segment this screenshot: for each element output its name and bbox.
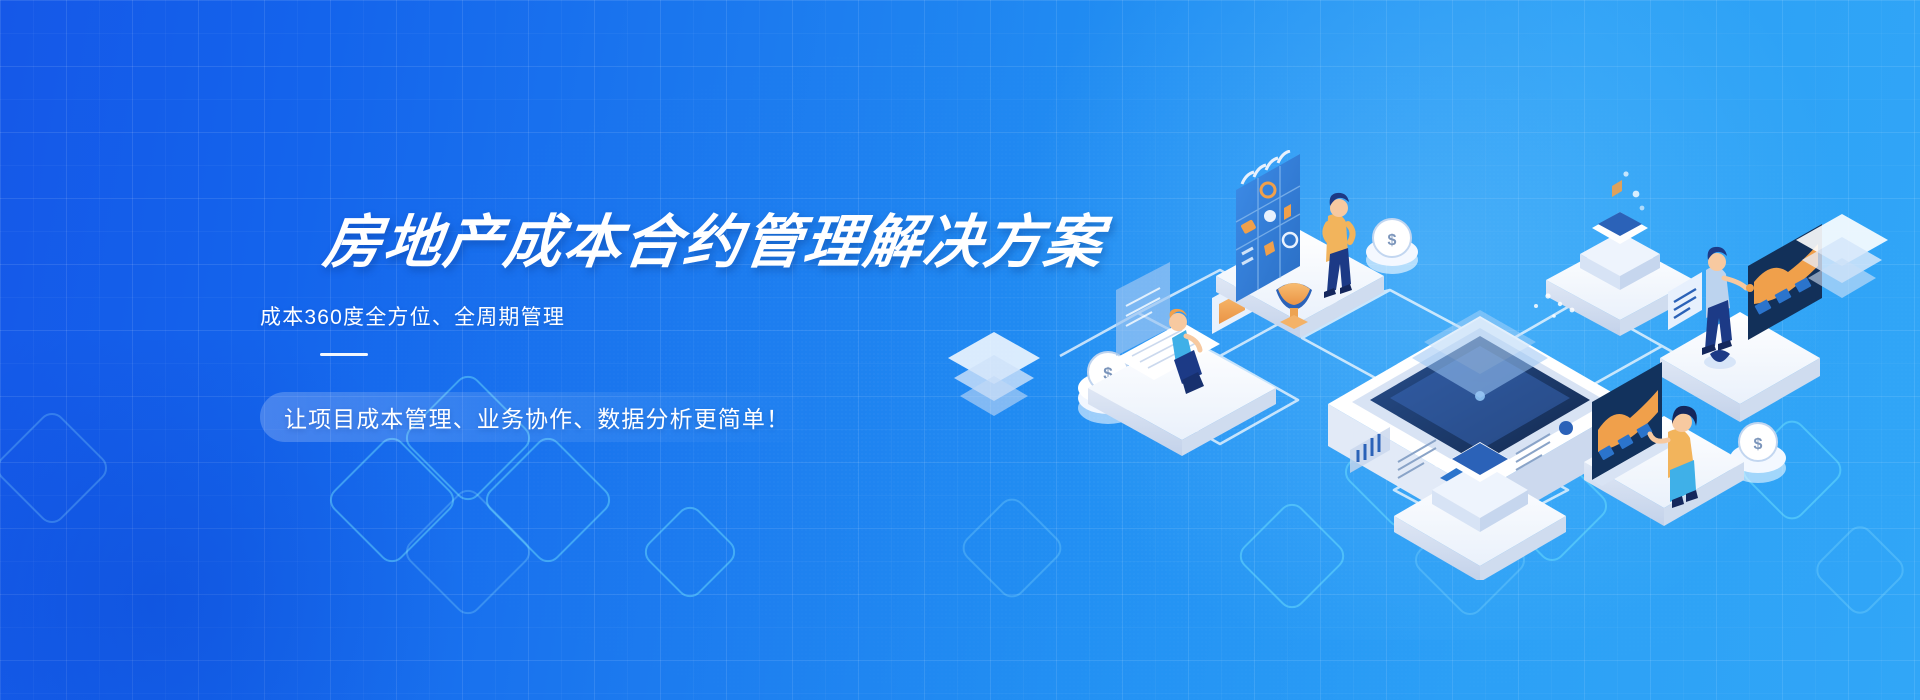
upload-particles — [1612, 171, 1644, 210]
svg-text:$: $ — [1754, 436, 1763, 453]
decorative-diamond — [324, 432, 460, 568]
decorative-diamond — [639, 501, 741, 603]
decorative-diamond — [480, 432, 616, 568]
decorative-diamond — [400, 484, 536, 620]
hero-text-block: 房地产成本合约管理解决方案 成本360度全方位、全周期管理 让项目成本管理、业务… — [258, 212, 1018, 442]
hero-banner: 房地产成本合约管理解决方案 成本360度全方位、全周期管理 让项目成本管理、业务… — [0, 0, 1920, 700]
decorative-diamond — [0, 407, 113, 529]
title-divider — [320, 353, 368, 356]
page-subtitle: 成本360度全方位、全周期管理 — [260, 301, 1018, 331]
svg-text:$: $ — [1388, 232, 1397, 249]
presenter-platform — [1660, 224, 1822, 422]
tagline-pill: 让项目成本管理、业务协作、数据分析更简单！ — [260, 392, 816, 442]
tagline-text: 让项目成本管理、业务协作、数据分析更简单！ — [284, 400, 790, 434]
coin-stack-center: $ — [1366, 219, 1418, 274]
page-title: 房地产成本合约管理解决方案 — [320, 212, 1026, 275]
